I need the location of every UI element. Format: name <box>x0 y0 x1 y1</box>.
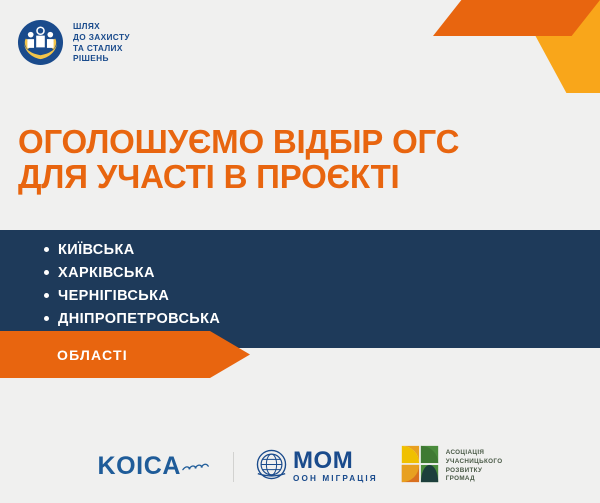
bullet-icon <box>44 247 49 252</box>
people-in-hands-circle-icon <box>17 19 64 66</box>
koica-logo: KOICA <box>97 454 211 479</box>
bullet-icon <box>44 293 49 298</box>
page-title-line-2: ДЛЯ УЧАСТІ В ПРОЄКТІ <box>18 159 583 194</box>
orange-parallelogram-icon <box>433 0 600 36</box>
iom-globe-icon <box>256 449 287 485</box>
oblasti-banner: ОБЛАСТІ <box>0 331 250 378</box>
koica-wordmark: KOICA <box>97 454 181 479</box>
bullet-icon <box>44 270 49 275</box>
association-logo: АСОЦІАЦІЯ УЧАСНИЦЬКОГО РОЗВИТКУ ГРОМАД <box>400 444 503 489</box>
list-item: КИЇВСЬКА <box>44 238 220 261</box>
footer-logos: KOICA <box>0 444 600 489</box>
association-name-text: АСОЦІАЦІЯ УЧАСНИЦЬКОГО РОЗВИТКУ ГРОМАД <box>446 449 503 485</box>
koica-swoosh-icon <box>181 460 211 479</box>
list-item: ДНІПРОПЕТРОВСЬКА <box>44 307 220 330</box>
page-title: ОГОЛОШУЄМО ВІДБІР ОГС ДЛЯ УЧАСТІ В ПРОЄК… <box>18 124 583 195</box>
list-item: ХАРКІВСЬКА <box>44 261 220 284</box>
list-item: ЧЕРНІГІВСЬКА <box>44 284 220 307</box>
page-title-line-1: ОГОЛОШУЄМО ВІДБІР ОГС <box>18 123 459 160</box>
brand-header: ШЛЯХ ДО ЗАХИСТУ ТА СТАЛИХ РІШЕНЬ <box>17 19 130 66</box>
iom-subtitle: ООН МІГРАЦІЯ <box>293 475 378 483</box>
logo-divider <box>233 452 234 482</box>
poster-canvas: ШЛЯХ ДО ЗАХИСТУ ТА СТАЛИХ РІШЕНЬ ОГОЛОШУ… <box>0 0 600 503</box>
bullet-icon <box>44 316 49 321</box>
banner-label: ОБЛАСТІ <box>57 347 128 363</box>
iom-text-block: MOM ООН МІГРАЦІЯ <box>293 449 378 483</box>
iom-logo: MOM ООН МІГРАЦІЯ <box>256 449 378 485</box>
region-label: ХАРКІВСЬКА <box>58 265 155 281</box>
association-mosaic-icon <box>400 444 440 489</box>
region-list: КИЇВСЬКА ХАРКІВСЬКА ЧЕРНІГІВСЬКА ДНІПРОП… <box>44 238 220 330</box>
region-label: ЧЕРНІГІВСЬКА <box>58 288 169 304</box>
region-label: ДНІПРОПЕТРОВСЬКА <box>58 311 220 327</box>
brand-name-text: ШЛЯХ ДО ЗАХИСТУ ТА СТАЛИХ РІШЕНЬ <box>73 21 130 65</box>
iom-wordmark: MOM <box>293 449 378 473</box>
region-label: КИЇВСЬКА <box>58 242 135 258</box>
